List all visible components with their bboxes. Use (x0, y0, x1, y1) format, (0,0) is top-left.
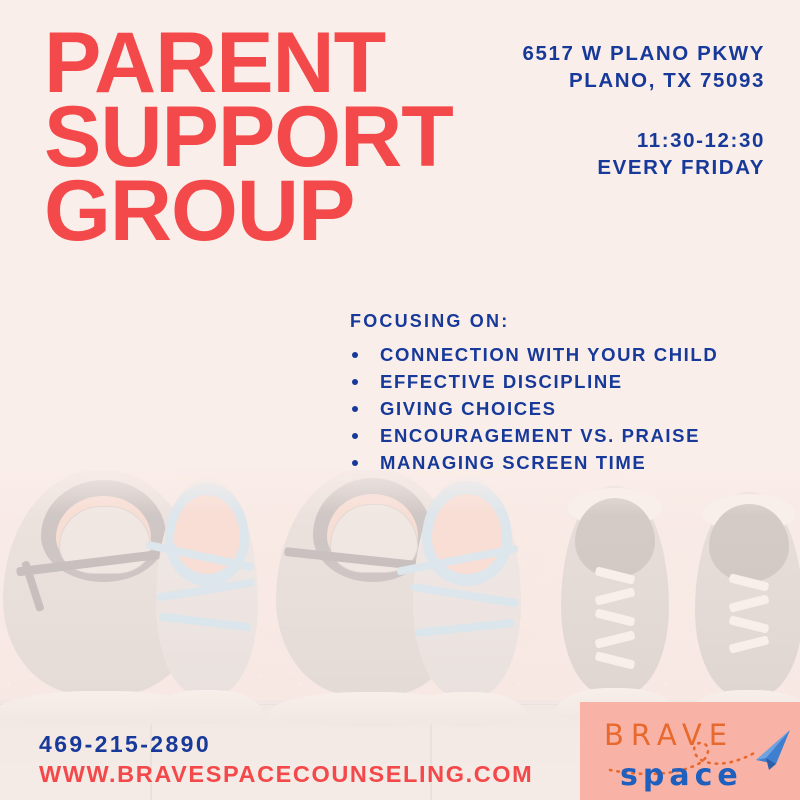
list-item-label: GIVING CHOICES (380, 398, 557, 419)
website-url[interactable]: WWW.BRAVESPACECOUNSELING.COM (39, 761, 533, 788)
address-block: 6517 W PLANO PKWY PLANO, TX 75093 (523, 40, 766, 94)
poster-canvas: PARENT SUPPORT GROUP 6517 W PLANO PKWY P… (0, 0, 800, 800)
bullet-icon (352, 352, 358, 358)
logo-word-brave: BRAVE (604, 718, 734, 752)
list-item: MANAGING SCREEN TIME (350, 449, 790, 476)
page-title: PARENT SUPPORT GROUP (44, 26, 453, 248)
list-item-label: ENCOURAGEMENT VS. PRAISE (380, 425, 700, 446)
bullet-icon (352, 379, 358, 385)
list-item: GIVING CHOICES (350, 395, 790, 422)
bullet-icon (352, 460, 358, 466)
address-line-1: 6517 W PLANO PKWY (523, 40, 766, 67)
headline-line-3: GROUP (44, 174, 453, 248)
list-item-label: CONNECTION WITH YOUR CHILD (380, 344, 718, 365)
address-line-2: PLANO, TX 75093 (523, 67, 766, 94)
bullet-icon (352, 406, 358, 412)
schedule-day: EVERY FRIDAY (597, 154, 765, 181)
phone-number[interactable]: 469-215-2890 (39, 731, 211, 758)
list-item: CONNECTION WITH YOUR CHILD (350, 341, 790, 368)
focus-section: FOCUSING ON: CONNECTION WITH YOUR CHILD … (350, 311, 790, 476)
shoe-6 (690, 492, 800, 724)
list-item-label: MANAGING SCREEN TIME (380, 452, 646, 473)
shoe-5 (556, 486, 674, 722)
focus-title: FOCUSING ON: (350, 311, 790, 332)
list-item: ENCOURAGEMENT VS. PRAISE (350, 422, 790, 449)
logo-word-space: space (620, 758, 743, 793)
bullet-icon (352, 433, 358, 439)
focus-list: CONNECTION WITH YOUR CHILD EFFECTIVE DIS… (350, 341, 790, 476)
schedule-block: 11:30-12:30 EVERY FRIDAY (597, 127, 765, 181)
list-item-label: EFFECTIVE DISCIPLINE (380, 371, 623, 392)
schedule-time: 11:30-12:30 (597, 127, 765, 154)
brave-space-logo[interactable]: BRAVE space (580, 702, 800, 800)
list-item: EFFECTIVE DISCIPLINE (350, 368, 790, 395)
